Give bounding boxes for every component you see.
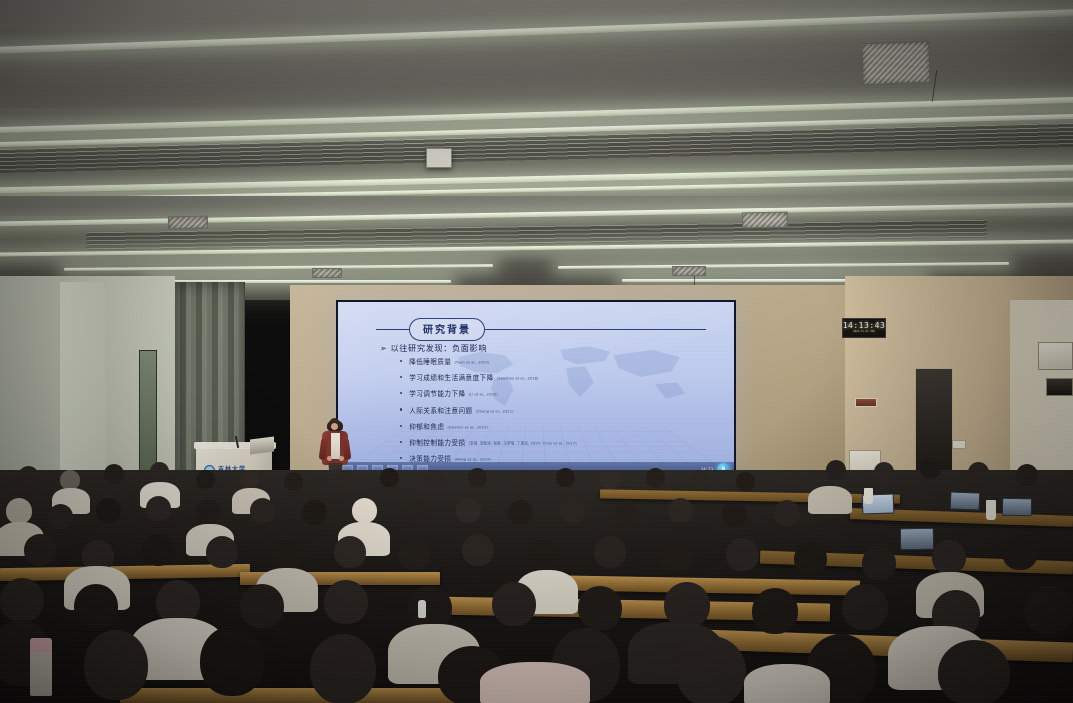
list-item: 学习调节能力下降 (Li et al., 2020) xyxy=(400,388,700,398)
audience-head xyxy=(676,636,746,703)
audience-head xyxy=(968,462,989,483)
list-item: 学习成绩和生活满意度下降 (Sanchez et al., 2018) xyxy=(400,372,700,382)
audience-head xyxy=(752,588,798,634)
audience-head xyxy=(96,498,121,523)
bullet-text: 降低睡眠质量 xyxy=(409,356,451,366)
audience-head xyxy=(74,584,118,628)
list-item: 抑制控制能力受损 (李琦, 李松泽, 张哲, 王梦莹, 丁思远, 2020; C… xyxy=(400,437,700,447)
wall-panel xyxy=(1046,378,1073,396)
bullet-dot-icon xyxy=(400,408,402,410)
audience-head xyxy=(196,500,221,525)
bullet-text: 人际关系和注意问题 xyxy=(409,405,472,415)
audience-body xyxy=(744,664,830,703)
slide-canvas: 研究背景 ➢以往研究发现：负面影响 降低睡眠质量 (Yuan et al., 2… xyxy=(338,302,734,476)
bullet-text: 抑制控制能力受损 xyxy=(409,437,465,447)
audience-head xyxy=(578,586,622,630)
audience-head xyxy=(284,472,303,491)
audience-head xyxy=(862,546,896,580)
bullet-citation: (Sanchez et al., 2018) xyxy=(497,377,539,381)
audience-head xyxy=(462,534,494,566)
audience-head xyxy=(302,500,327,525)
audience-head xyxy=(660,540,692,572)
audience-head xyxy=(600,470,619,489)
audience-head xyxy=(60,470,80,490)
presenter-right-hand xyxy=(339,456,344,461)
air-vent xyxy=(312,268,342,278)
audience-head xyxy=(938,640,1010,703)
bullet-dot-icon xyxy=(400,441,402,443)
presenter-left-hand xyxy=(327,456,332,461)
audience-body xyxy=(808,486,852,514)
slide-lead-line: ➢以往研究发现：负面影响 xyxy=(380,342,487,354)
audience-head xyxy=(690,470,709,489)
audience-head xyxy=(324,580,368,624)
audience-head xyxy=(404,500,429,525)
audience-head xyxy=(932,540,966,574)
audience-head xyxy=(1002,534,1038,570)
audience-head xyxy=(310,634,376,703)
slide-title-row: 研究背景 xyxy=(376,318,706,341)
list-item: 人际关系和注意问题 (Zhang et al., 2021) xyxy=(400,405,700,415)
slide-lead-text: 以往研究发现：负面影响 xyxy=(390,343,487,353)
audience-head xyxy=(468,468,487,487)
air-vent xyxy=(672,266,706,276)
audience-head xyxy=(794,542,827,575)
audience-head xyxy=(782,470,802,490)
audience-head xyxy=(668,498,693,523)
audience-head xyxy=(646,468,665,487)
drink-cup xyxy=(986,500,996,520)
slide-title: 研究背景 xyxy=(423,325,471,336)
hanging-cable xyxy=(932,70,937,102)
audience-head xyxy=(250,498,275,523)
audience-head xyxy=(774,500,800,526)
bullet-citation: (Yuan et al., 2020) xyxy=(454,361,489,365)
ceiling-speaker xyxy=(426,148,452,168)
student-laptop xyxy=(900,528,934,551)
bullet-dot-icon xyxy=(400,392,402,394)
arrow-icon: ➢ xyxy=(380,343,387,353)
audience-head xyxy=(556,468,575,487)
bullet-dot-icon xyxy=(400,425,402,427)
audience-head xyxy=(240,584,284,628)
audience-head xyxy=(722,502,747,527)
audience-head xyxy=(456,498,481,523)
wall-switch xyxy=(952,440,966,449)
audience-head xyxy=(206,536,238,568)
audience-head xyxy=(336,470,355,489)
bullet-dot-icon xyxy=(400,376,402,378)
audience-head xyxy=(240,470,259,489)
audience-head xyxy=(512,470,531,489)
audience-head xyxy=(614,500,639,525)
audience-head xyxy=(104,464,124,484)
audience-head xyxy=(24,534,56,566)
student-laptop xyxy=(950,491,981,510)
audience-head xyxy=(48,504,73,529)
audience-head xyxy=(18,466,39,487)
audience-head xyxy=(560,498,585,523)
audience-head xyxy=(146,496,171,521)
audience-head xyxy=(736,472,755,491)
audience-head xyxy=(196,470,215,489)
student-laptop xyxy=(1002,498,1032,517)
bullet-text: 抑郁和焦虑 xyxy=(409,421,444,431)
ceiling xyxy=(0,0,1073,300)
audience-head xyxy=(594,536,626,568)
list-item: 降低睡眠质量 (Yuan et al., 2020) xyxy=(400,356,700,366)
audience-head xyxy=(150,462,169,481)
slide-title-pill: 研究背景 xyxy=(409,318,485,341)
audience-head xyxy=(508,500,533,525)
bullet-citation: (Zhang et al., 2021) xyxy=(476,409,514,413)
lecture-hall-photo: 14:13:43 2024-11-21 THU xyxy=(0,0,1073,703)
audience-head xyxy=(874,462,894,482)
drink-cup xyxy=(864,488,873,504)
ceiling-light-strip xyxy=(64,264,493,271)
bullet-citation: (Li et al., 2020) xyxy=(469,393,498,397)
audience-head xyxy=(398,538,430,570)
ceiling-light-strip xyxy=(558,262,1009,269)
led-wall-clock: 14:13:43 2024-11-21 THU xyxy=(842,318,886,338)
slide-bullet-list: 降低睡眠质量 (Yuan et al., 2020) 学习成绩和生活满意度下降 … xyxy=(400,356,700,469)
air-vent xyxy=(742,212,788,229)
audience-head xyxy=(6,498,32,524)
audience-head xyxy=(528,540,560,572)
bullet-text: 学习成绩和生活满意度下降 xyxy=(409,372,494,382)
audience-head xyxy=(842,584,888,630)
led-clock-date: 2024-11-21 THU xyxy=(853,331,875,334)
audience-head xyxy=(200,626,264,696)
audience-head xyxy=(424,470,443,489)
audience-head xyxy=(334,536,366,568)
projection-screen: 研究背景 ➢以往研究发现：负面影响 降低睡眠质量 (Yuan et al., 2… xyxy=(336,300,736,478)
wall-panel xyxy=(1038,342,1073,370)
presenter-shirt xyxy=(331,433,340,459)
bullet-citation: (李琦, 李松泽, 张哲, 王梦莹, 丁思远, 2020; Chen et al… xyxy=(469,442,577,447)
bullet-citation: (Demirci et al., 2015) xyxy=(447,425,488,429)
audience-head xyxy=(142,534,174,566)
audience-head xyxy=(920,458,941,479)
air-vent xyxy=(861,41,930,85)
audience-head xyxy=(352,498,377,523)
audience-head xyxy=(0,578,44,622)
led-clock-time: 14:13:43 xyxy=(843,322,886,330)
audience-body xyxy=(480,662,590,703)
audience-head xyxy=(84,630,148,700)
water-bottle xyxy=(30,638,52,696)
list-item: 抑郁和焦虑 (Demirci et al., 2015) xyxy=(400,421,700,431)
podium-laptop xyxy=(250,437,274,455)
bullet-dot-icon xyxy=(400,457,402,459)
audience-head xyxy=(1016,464,1038,486)
audience-head xyxy=(380,468,399,487)
bullet-text: 学习调节能力下降 xyxy=(409,388,465,398)
audience-head xyxy=(726,538,759,571)
fire-equipment-box xyxy=(855,398,877,407)
audience-head xyxy=(826,460,846,480)
audience-head xyxy=(492,582,536,626)
audience-head xyxy=(1024,586,1073,634)
presenter-face xyxy=(331,423,338,430)
air-vent xyxy=(168,216,208,230)
bullet-dot-icon xyxy=(400,360,402,362)
water-bottle xyxy=(418,600,426,618)
